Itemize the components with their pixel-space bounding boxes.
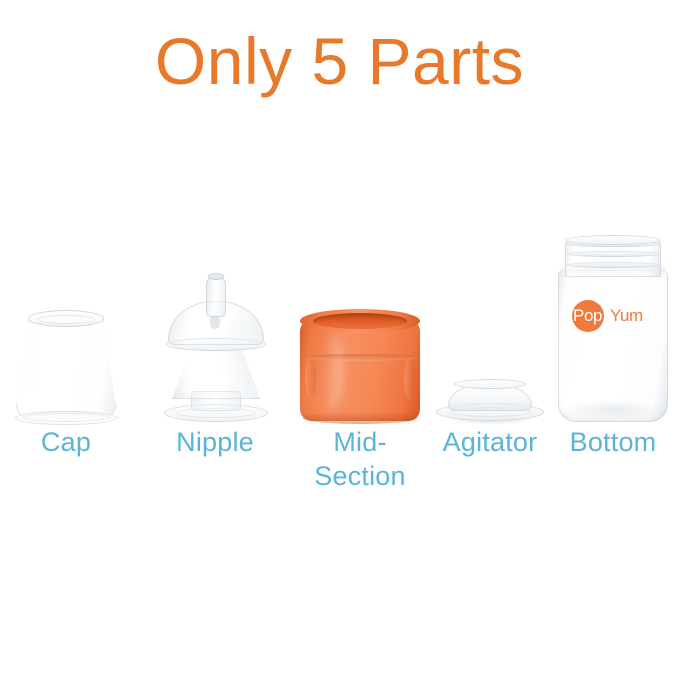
agitator-dome-top xyxy=(454,379,526,389)
logo-yum-text: Yum xyxy=(610,307,643,324)
bottle-thread-2 xyxy=(566,251,660,257)
nipple-vent xyxy=(210,315,220,329)
part-image-nipple xyxy=(150,225,280,425)
part-image-mid-section xyxy=(296,225,424,425)
parts-labels: Cap Nipple Mid- Section Agitator Bottom xyxy=(0,425,679,505)
part-image-cap xyxy=(6,225,126,425)
mid-section-grip-left xyxy=(305,357,316,399)
part-label-bottom: Bottom xyxy=(552,425,674,459)
part-image-bottom: Pop Yum xyxy=(552,225,674,425)
mid-section-rim-inner xyxy=(313,313,407,329)
part-label-mid-section-line2: Section xyxy=(291,459,429,493)
logo-pop-text: Pop xyxy=(573,307,613,324)
nipple-teat-tip xyxy=(206,275,226,317)
page-title: Only 5 Parts xyxy=(0,22,679,100)
bottle-base-shading xyxy=(564,400,662,420)
mid-section-highlight xyxy=(322,335,344,409)
part-label-mid-section-line1: Mid- xyxy=(291,425,429,459)
cap-base-inner-ring xyxy=(22,413,110,422)
bottle-neck-opening xyxy=(565,235,661,245)
mid-section-bottom-edge xyxy=(302,412,418,424)
cap-highlight xyxy=(28,331,44,401)
parts-row: Pop Yum xyxy=(0,225,679,425)
part-image-agitator xyxy=(434,225,546,425)
nipple-body xyxy=(172,345,260,399)
product-parts-infographic: Only 5 Parts xyxy=(0,0,679,679)
mid-section-groove xyxy=(301,354,419,361)
part-label-cap: Cap xyxy=(6,425,126,459)
bottle-thread-3 xyxy=(566,262,660,268)
part-label-mid-section: Mid- Section xyxy=(291,425,429,493)
part-label-agitator: Agitator xyxy=(430,425,550,459)
part-label-nipple: Nipple xyxy=(150,425,280,459)
mid-section-body xyxy=(300,321,420,421)
cap-top-inner-ring xyxy=(37,315,95,324)
popyum-logo: Pop Yum xyxy=(572,299,656,333)
nipple-tip-cap xyxy=(208,273,224,280)
mid-section-grip-right xyxy=(404,357,415,399)
